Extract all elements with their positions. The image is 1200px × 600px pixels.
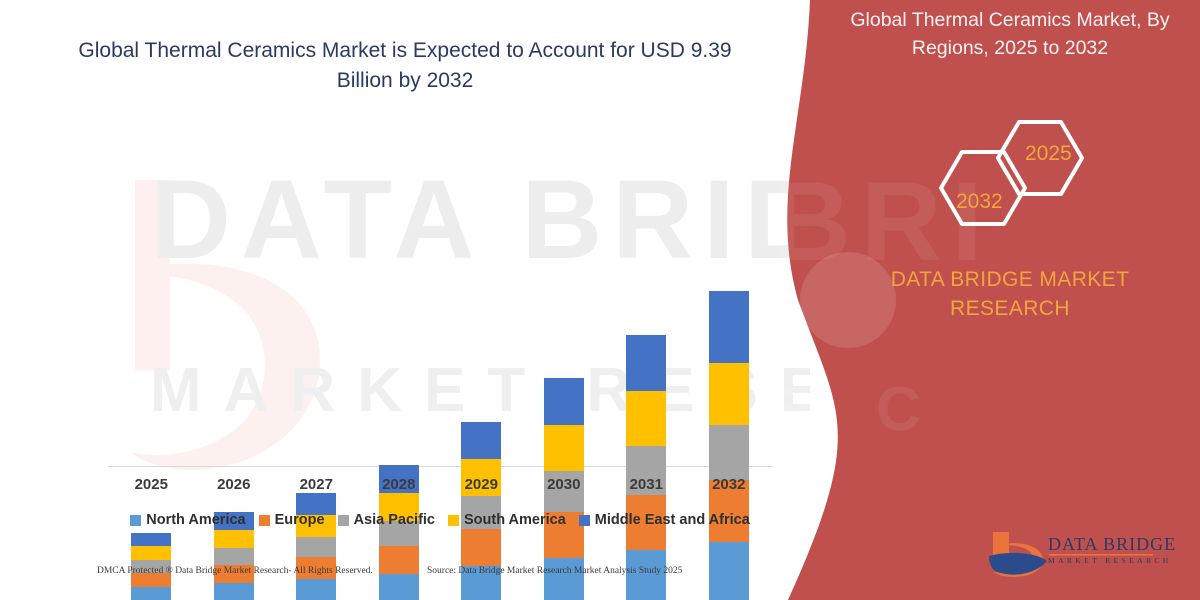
bar-segment: [544, 425, 584, 471]
brand-name: DATA BRIDGE MARKET RESEARCH: [840, 266, 1180, 324]
svg-text:BRI: BRI: [780, 159, 993, 284]
bar-segment: [214, 583, 254, 600]
legend-label: Middle East and Africa: [595, 512, 750, 528]
bar-column: [605, 272, 688, 600]
legend-swatch-icon: [579, 515, 590, 526]
page-title: Global Thermal Ceramics Market is Expect…: [60, 36, 750, 96]
bar-segment: [214, 548, 254, 565]
hexagon-outlines-icon: [920, 110, 1120, 240]
x-axis-label: 2027: [275, 476, 358, 493]
bar-segment: [296, 537, 336, 557]
legend-item[interactable]: Europe: [259, 512, 325, 528]
bar-column: [193, 272, 276, 600]
bar-segment: [544, 558, 584, 600]
chart-legend: North AmericaEuropeAsia PacificSouth Ame…: [110, 512, 770, 528]
legend-swatch-icon: [259, 515, 270, 526]
bar-segment: [461, 422, 501, 459]
bar-segment: [131, 533, 171, 546]
watermark-title: DATA BRIDGE: [150, 155, 810, 284]
chart-pane: DATA BRIDGE MARKET RESEARCH Global Therm…: [0, 0, 810, 600]
bar-segment: [626, 391, 666, 446]
bar-column: [358, 272, 441, 600]
legend-swatch-icon: [338, 515, 349, 526]
red-panel-shape: BRI R C: [780, 0, 1200, 600]
stacked-bar: [626, 335, 666, 600]
bar-segment: [379, 546, 419, 574]
x-axis-label: 2029: [440, 476, 523, 493]
brand-line-2: RESEARCH: [840, 295, 1180, 324]
x-axis-label: 2031: [605, 476, 688, 493]
bar-chart-plot: [110, 272, 770, 600]
bar-segment: [709, 425, 749, 480]
x-axis-label: 2030: [523, 476, 606, 493]
bar-segment: [709, 363, 749, 425]
x-axis-label: 2032: [688, 476, 771, 493]
legend-swatch-icon: [448, 515, 459, 526]
logo-text-bottom: MARKET RESEARCH: [1048, 556, 1172, 565]
bar-segment: [296, 579, 336, 600]
x-axis-label: 2025: [110, 476, 193, 493]
bar-segment: [709, 291, 749, 363]
bar-segment: [379, 574, 419, 600]
hexagon-label-2032: 2032: [956, 190, 1003, 214]
x-axis-label: 2026: [193, 476, 276, 493]
infographic-canvas: DATA BRIDGE MARKET RESEARCH Global Therm…: [0, 0, 1200, 600]
bar-segment: [709, 542, 749, 600]
legend-label: North America: [146, 512, 245, 528]
data-bridge-logo-icon: [985, 528, 1185, 580]
x-axis-label: 2028: [358, 476, 441, 493]
stacked-bar: [709, 291, 749, 600]
bar-column: [110, 272, 193, 600]
bar-segment: [544, 378, 584, 425]
bar-segment: [626, 335, 666, 391]
circle-watermark: [800, 252, 896, 348]
bar-segment: [131, 546, 171, 560]
bar-segment: [214, 530, 254, 548]
brand-line-1: DATA BRIDGE MARKET: [840, 266, 1180, 295]
footer-copyright: DMCA Protected ® Data Bridge Market Rese…: [97, 566, 373, 576]
legend-swatch-icon: [130, 515, 141, 526]
legend-item[interactable]: Asia Pacific: [338, 512, 435, 528]
hexagon-label-2025: 2025: [1025, 142, 1072, 166]
legend-label: South America: [464, 512, 566, 528]
legend-item[interactable]: North America: [130, 512, 245, 528]
stacked-bar: [296, 493, 336, 600]
bar-column: [275, 272, 358, 600]
legend-item[interactable]: Middle East and Africa: [579, 512, 750, 528]
legend-label: Asia Pacific: [354, 512, 435, 528]
footer-source: Source: Data Bridge Market Research Mark…: [427, 566, 682, 576]
brand-panel-title: Global Thermal Ceramics Market, By Regio…: [830, 6, 1190, 63]
legend-item[interactable]: South America: [448, 512, 566, 528]
x-axis-labels: 20252026202720282029203020312032: [110, 476, 770, 493]
legend-label: Europe: [275, 512, 325, 528]
bar-column: [688, 272, 771, 600]
logo-text-top: DATA BRIDGE: [1048, 534, 1176, 555]
bar-column: [440, 272, 523, 600]
bar-segment: [461, 529, 501, 566]
year-hexagons: 2032 2025: [920, 110, 1120, 240]
bar-column: [523, 272, 606, 600]
bar-segment: [131, 587, 171, 600]
